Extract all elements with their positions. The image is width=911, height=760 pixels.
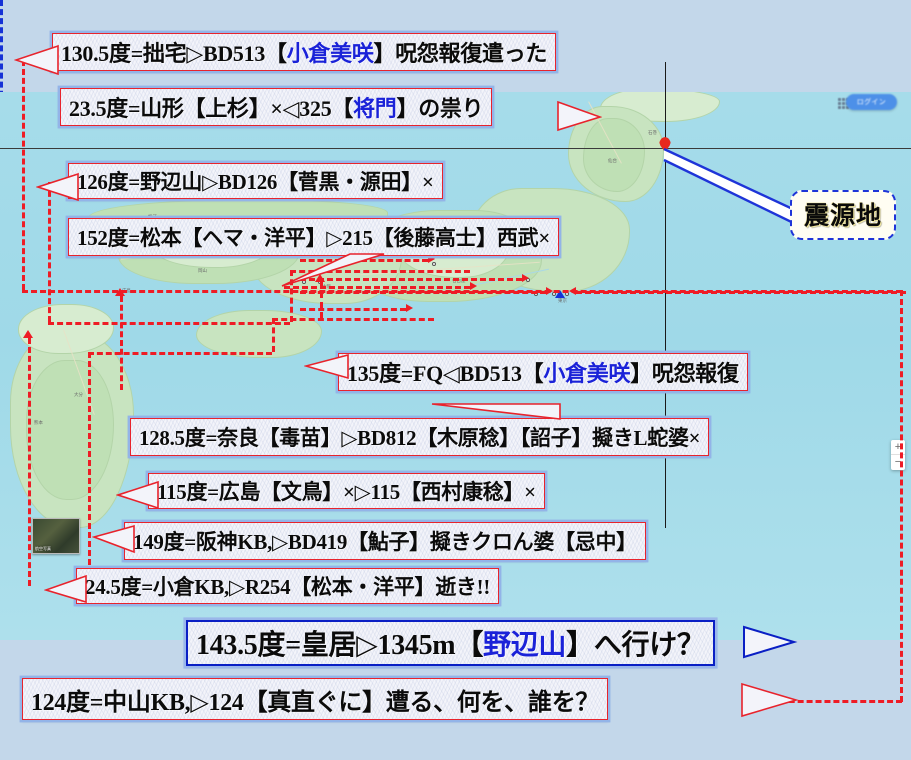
callout-115[interactable]: 115度=広島【文鳥】×▷115【西村康稔】× (148, 473, 545, 509)
callout-128-5[interactable]: 128.5度=奈良【毒苗】▷BD812【木原稔】【詔子】擬きL蛇婆× (130, 418, 709, 456)
callout-130-5[interactable]: 130.5度=拙宅▷BD513【小倉美咲】呪怨報復遣った (52, 33, 556, 71)
login-button[interactable]: ログイン (846, 94, 897, 110)
callout-149[interactable]: 149度=阪神KB,▷BD419【鮎子】擬きクロん婆【忌中】 (124, 522, 646, 560)
epicenter-callout: 震源地 (790, 190, 896, 240)
callout-124-tail (740, 680, 800, 722)
annotated-map-figure: 東京 大阪 広島 岡山 仙台 石巻 熊本 大分 松江 名古屋 ログイン + − … (0, 0, 911, 760)
branch-126-152-vert (48, 182, 51, 322)
callout-23-5-text: 23.5度=山形【上杉】×◁325【将門】の祟り (69, 91, 483, 123)
satellite-thumbnail[interactable]: 航空写真 (32, 518, 80, 554)
callout-152-arrow (284, 286, 470, 289)
route-arrow-126-head (428, 255, 435, 263)
branch-chugoku-top (88, 352, 272, 355)
callout-24-5-tail (44, 574, 88, 604)
callout-143-5-tail (742, 624, 798, 662)
route-hiroshima-riser (120, 296, 123, 390)
route-arrow-152-head (522, 274, 529, 282)
map-label-tokyo: 東京 (558, 298, 567, 304)
branch-chugoku-vert (88, 352, 91, 574)
route-kokura-riser (28, 338, 31, 586)
branch-chugoku-riser (272, 318, 275, 352)
trunk-left-top (22, 60, 25, 290)
branch-126-152-horiz (48, 322, 290, 325)
callout-126-text: 126度=野辺山▷BD126【菅黒・源田】× (77, 166, 434, 196)
map-label-oita: 大分 (74, 392, 83, 398)
route-arrow-23-head (406, 304, 413, 312)
callout-130-5-tail (14, 44, 60, 76)
land-kyushu-north (18, 304, 114, 354)
callout-152-text: 152度=松本【ヘマ・洋平】▷215【後藤高士】西武× (77, 222, 550, 252)
callout-23-5[interactable]: 23.5度=山形【上杉】×◁325【将門】の祟り (60, 88, 492, 126)
map-label-okayama: 岡山 (198, 268, 207, 274)
callout-149-tail (92, 524, 136, 554)
callout-115-tail (116, 480, 160, 510)
map-label-kumamoto: 熊本 (34, 420, 43, 426)
route-kokura-arrow-head (23, 330, 33, 338)
callout-130-5-text: 130.5度=拙宅▷BD513【小倉美咲】呪怨報復遣った (61, 36, 547, 68)
callout-143-5-text: 143.5度=皇居▷1345m【野辺山】へ行け？ (196, 623, 705, 663)
callout-143-5[interactable]: 143.5度=皇居▷1345m【野辺山】へ行け？ (186, 620, 715, 666)
callout-128-5-text: 128.5度=奈良【毒苗】▷BD812【木原稔】【詔子】擬きL蛇婆× (139, 422, 700, 452)
callout-115-text: 115度=広島【文鳥】×▷115【西村康稔】× (157, 476, 536, 506)
branch-chugoku-join (272, 318, 434, 321)
callout-128-5-tail (430, 400, 570, 422)
callout-24-5[interactable]: 24.5度=小倉KB,▷R254【松本・洋平】逝き!! (76, 568, 499, 604)
callout-126[interactable]: 126度=野辺山▷BD126【菅黒・源田】× (68, 163, 443, 199)
callout-135-text: 135度=FQ◁BD513【小倉美咲】呪怨報復 (347, 356, 739, 388)
epicenter-label: 震源地 (804, 203, 882, 230)
callout-135-tail (304, 352, 350, 386)
callout-124[interactable]: 124度=中山KB,▷124【真直ぐに】遭る、何を、誰を？ (22, 678, 608, 720)
callout-126-tail (36, 172, 80, 202)
callout-149-text: 149度=阪神KB,▷BD419【鮎子】擬きクロん婆【忌中】 (133, 526, 637, 556)
callout-152-arrow-head (470, 282, 477, 290)
callout-152-tail (280, 250, 400, 290)
trunk-right-down (900, 290, 903, 702)
callout-23-5-tail (556, 100, 602, 132)
crosshair-vertical (665, 62, 666, 528)
map-label-ishinomaki: 石巻 (648, 130, 657, 136)
land-kyushu-inner (26, 360, 114, 500)
trunk-top-bottom-run (22, 290, 902, 293)
route-arrow-23 (300, 308, 406, 311)
callout-24-5-text: 24.5度=小倉KB,▷R254【松本・洋平】逝き!! (85, 571, 490, 601)
satellite-thumbnail-label: 航空写真 (35, 546, 51, 552)
callout-135[interactable]: 135度=FQ◁BD513【小倉美咲】呪怨報復 (338, 353, 748, 391)
callout-124-text: 124度=中山KB,▷124【真直ぐに】遭る、何を、誰を？ (31, 682, 599, 717)
map-label-sendai: 仙台 (608, 158, 617, 164)
